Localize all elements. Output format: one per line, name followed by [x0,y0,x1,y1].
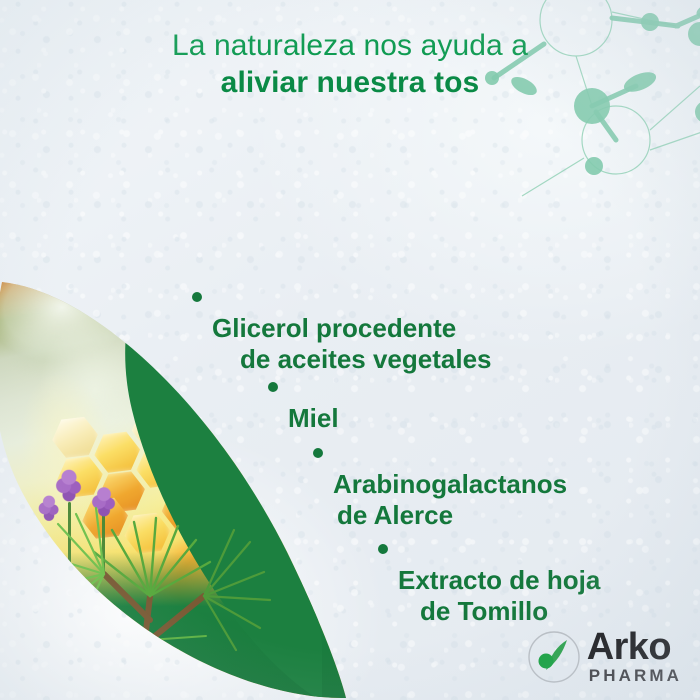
bullet-dot-2 [268,382,278,392]
ingredient-line-2: de Tomillo [420,596,600,627]
brand-logo: Arko PHARMA [527,628,682,684]
promo-poster: La naturaleza nos ayuda a aliviar nuestr… [0,0,700,700]
bullet-dot-3 [313,448,323,458]
brand-subname: PHARMA [589,667,682,684]
arko-leaf-icon [527,630,581,684]
brand-name: Arko [587,628,671,666]
bullet-dot-1 [192,292,202,302]
ingredient-list: Glicerol procedente de aceites vegetales… [0,0,700,700]
ingredient-line-2: de aceites vegetales [240,344,492,375]
ingredient-line-1: Miel [288,403,339,433]
ingredient-line-2: de Alerce [337,500,567,531]
bullet-dot-4 [378,544,388,554]
ingredient-line-1: Glicerol procedente [212,313,456,343]
ingredient-line-1: Arabinogalactanos [333,469,567,499]
ingredient-line-1: Extracto de hoja [398,565,600,595]
list-item: Glicerol procedente de aceites vegetales [212,282,492,407]
list-item: Miel [288,372,339,434]
